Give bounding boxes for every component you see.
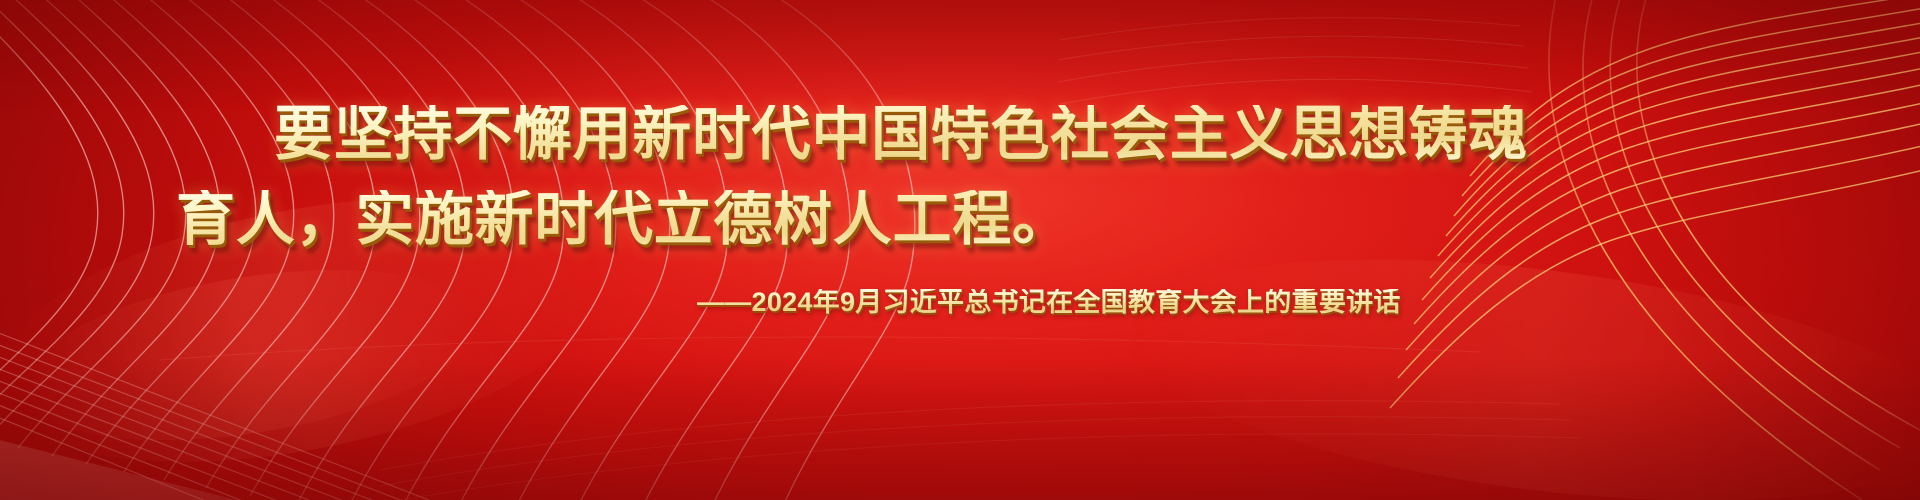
speech-attribution: ——2024年9月习近平总书记在全国教育大会上的重要讲话: [697, 289, 1401, 316]
headline-line-2: 育人，实施新时代立德树人工程。: [176, 190, 1072, 249]
propaganda-banner: 要坚持不懈用新时代中国特色社会主义思想铸魂 育人，实施新时代立德树人工程。 ——…: [0, 0, 1920, 500]
banner-content: 要坚持不懈用新时代中国特色社会主义思想铸魂 育人，实施新时代立德树人工程。 ——…: [0, 0, 1920, 500]
headline-line-1: 要坚持不懈用新时代中国特色社会主义思想铸魂: [274, 105, 1528, 164]
